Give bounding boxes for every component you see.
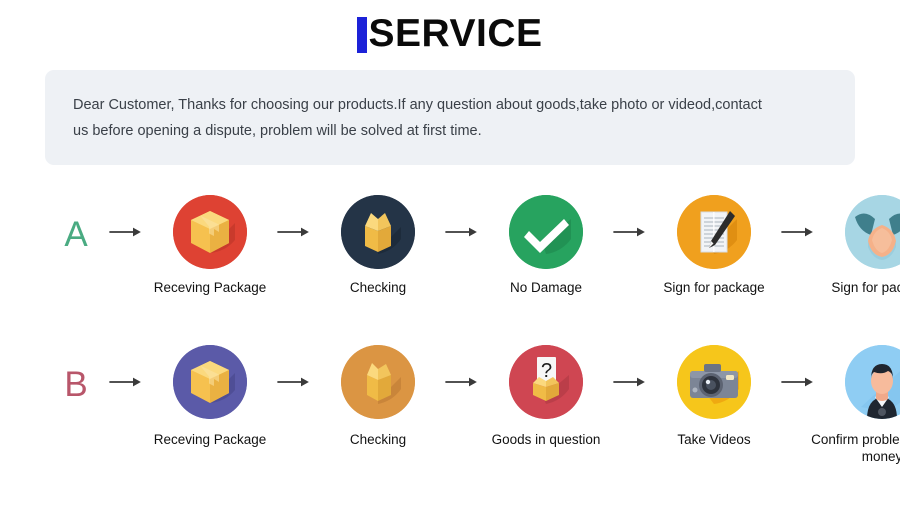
- package-box-icon: [173, 345, 247, 419]
- flow-row-a-letter: A: [48, 195, 104, 252]
- flow-b-step-5[interactable]: Confirm problem,refund money: [820, 345, 900, 465]
- flow-a-step-1-label: Receving Package: [136, 279, 284, 296]
- flow-b-step-3[interactable]: ? Goods in question: [484, 345, 608, 448]
- checkmark-icon: [509, 195, 583, 269]
- arrow-right-icon: [104, 195, 148, 239]
- flow-a-step-4-label: Sign for package: [640, 279, 788, 296]
- flow-b-step-3-label: Goods in question: [472, 431, 620, 448]
- camera-icon: [677, 345, 751, 419]
- flow-b-step-2-label: Checking: [304, 431, 452, 448]
- flow-a-step-5-label: Sign for package: [808, 279, 900, 296]
- page-header: SERVICE: [0, 0, 900, 57]
- open-box-icon: [341, 345, 415, 419]
- arrow-right-icon: [776, 195, 820, 239]
- notice-line-1: Dear Customer, Thanks for choosing our p…: [73, 92, 827, 118]
- arrow-right-icon: [440, 345, 484, 389]
- flow-b-step-1[interactable]: Receving Package: [148, 345, 272, 448]
- arrow-right-icon: [608, 345, 652, 389]
- arrow-right-icon: [272, 195, 316, 239]
- question-box-icon: ?: [509, 345, 583, 419]
- notice-line-2: us before opening a dispute, problem wil…: [73, 118, 827, 144]
- flow-a-step-5[interactable]: Sign for package: [820, 195, 900, 296]
- package-box-icon: [173, 195, 247, 269]
- flow-row-b: B Receving Package: [0, 345, 900, 465]
- customer-notice-box: Dear Customer, Thanks for choosing our p…: [45, 70, 855, 165]
- arrow-right-icon: [272, 345, 316, 389]
- page-title-text: SERVICE: [368, 14, 542, 53]
- arrow-right-icon: [104, 345, 148, 389]
- flow-b-step-2[interactable]: Checking: [316, 345, 440, 448]
- handshake-icon: [845, 195, 900, 269]
- page-title: SERVICE: [357, 14, 542, 53]
- flow-a-step-4[interactable]: Sign for package: [652, 195, 776, 296]
- flow-b-step-5-label: Confirm problem,refund money: [808, 431, 900, 465]
- title-accent-bar: [357, 17, 367, 53]
- arrow-right-icon: [440, 195, 484, 239]
- support-person-icon: [845, 345, 900, 419]
- flow-row-a: A Receving Package: [0, 195, 900, 296]
- flow-a-step-2-label: Checking: [304, 279, 452, 296]
- flow-a-step-3[interactable]: No Damage: [484, 195, 608, 296]
- flow-b-step-1-label: Receving Package: [136, 431, 284, 448]
- flow-b-step-4-label: Take Videos: [640, 431, 788, 448]
- arrow-right-icon: [776, 345, 820, 389]
- arrow-right-icon: [608, 195, 652, 239]
- signature-document-icon: [677, 195, 751, 269]
- open-box-icon: [341, 195, 415, 269]
- flow-a-step-3-label: No Damage: [472, 279, 620, 296]
- flow-b-step-4[interactable]: Take Videos: [652, 345, 776, 448]
- flow-a-step-2[interactable]: Checking: [316, 195, 440, 296]
- flow-row-b-letter: B: [48, 345, 104, 402]
- flow-a-step-1[interactable]: Receving Package: [148, 195, 272, 296]
